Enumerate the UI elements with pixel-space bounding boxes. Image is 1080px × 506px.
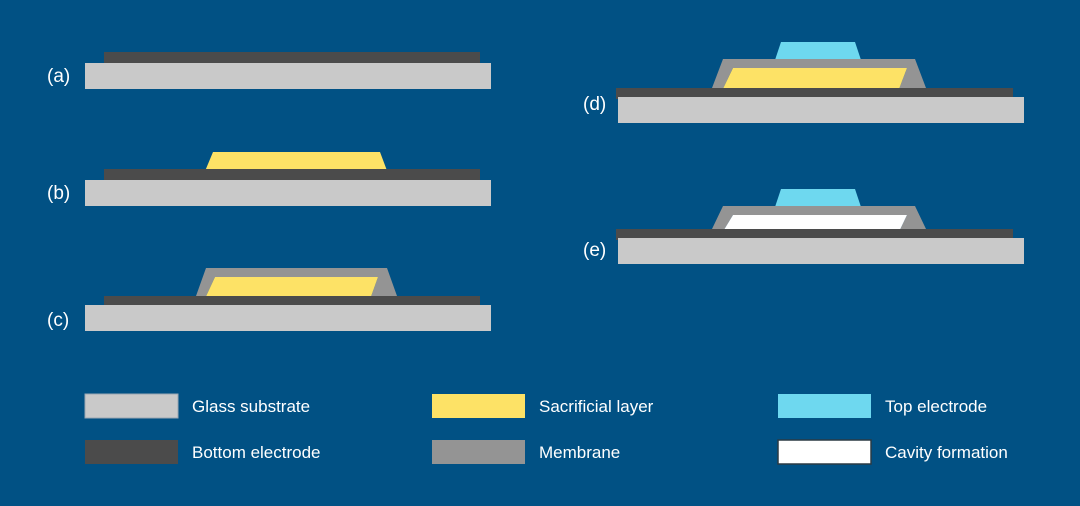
- panel-a-glass-substrate: [85, 63, 491, 89]
- panel-a-bottom-electrode: [104, 52, 480, 63]
- panel-d-label: (d): [583, 94, 606, 115]
- legend-swatch-membrane: [432, 440, 525, 464]
- legend-label-cavity-formation: Cavity formation: [885, 443, 1008, 462]
- panel-b-label: (b): [47, 183, 70, 204]
- legend-swatch-bottom-electrode: [85, 440, 178, 464]
- panel-e-glass-substrate: [618, 238, 1024, 264]
- process-flow-diagram: (a) (b) (c) (d) (e): [0, 0, 1080, 506]
- legend-label-bottom-electrode: Bottom electrode: [192, 443, 321, 462]
- panel-e-label: (e): [583, 240, 606, 261]
- legend-swatch-sacrificial-layer: [432, 394, 525, 418]
- legend-label-sacrificial-layer: Sacrificial layer: [539, 397, 654, 416]
- panel-d-top-electrode: [775, 42, 861, 60]
- legend-label-top-electrode: Top electrode: [885, 397, 987, 416]
- legend-swatch-top-electrode: [778, 394, 871, 418]
- legend-swatch-cavity-formation: [778, 440, 871, 464]
- panel-c-label: (c): [47, 310, 69, 331]
- panel-e-top-electrode: [775, 189, 861, 207]
- legend-item-sacrificial-layer: Sacrificial layer: [432, 394, 654, 418]
- panel-b-glass-substrate: [85, 180, 491, 206]
- legend-item-bottom-electrode: Bottom electrode: [85, 440, 321, 464]
- legend-item-cavity-formation: Cavity formation: [778, 440, 1008, 464]
- panel-a-label: (a): [47, 66, 70, 87]
- panel-c-glass-substrate: [85, 305, 491, 331]
- legend-label-membrane: Membrane: [539, 443, 620, 462]
- panel-b-bottom-electrode: [104, 169, 480, 180]
- panel-a: (a): [47, 52, 491, 89]
- legend-item-glass-substrate: Glass substrate: [85, 394, 310, 418]
- panel-d-glass-substrate: [618, 97, 1024, 123]
- legend-swatch-glass-substrate: [85, 394, 178, 418]
- legend-label-glass-substrate: Glass substrate: [192, 397, 310, 416]
